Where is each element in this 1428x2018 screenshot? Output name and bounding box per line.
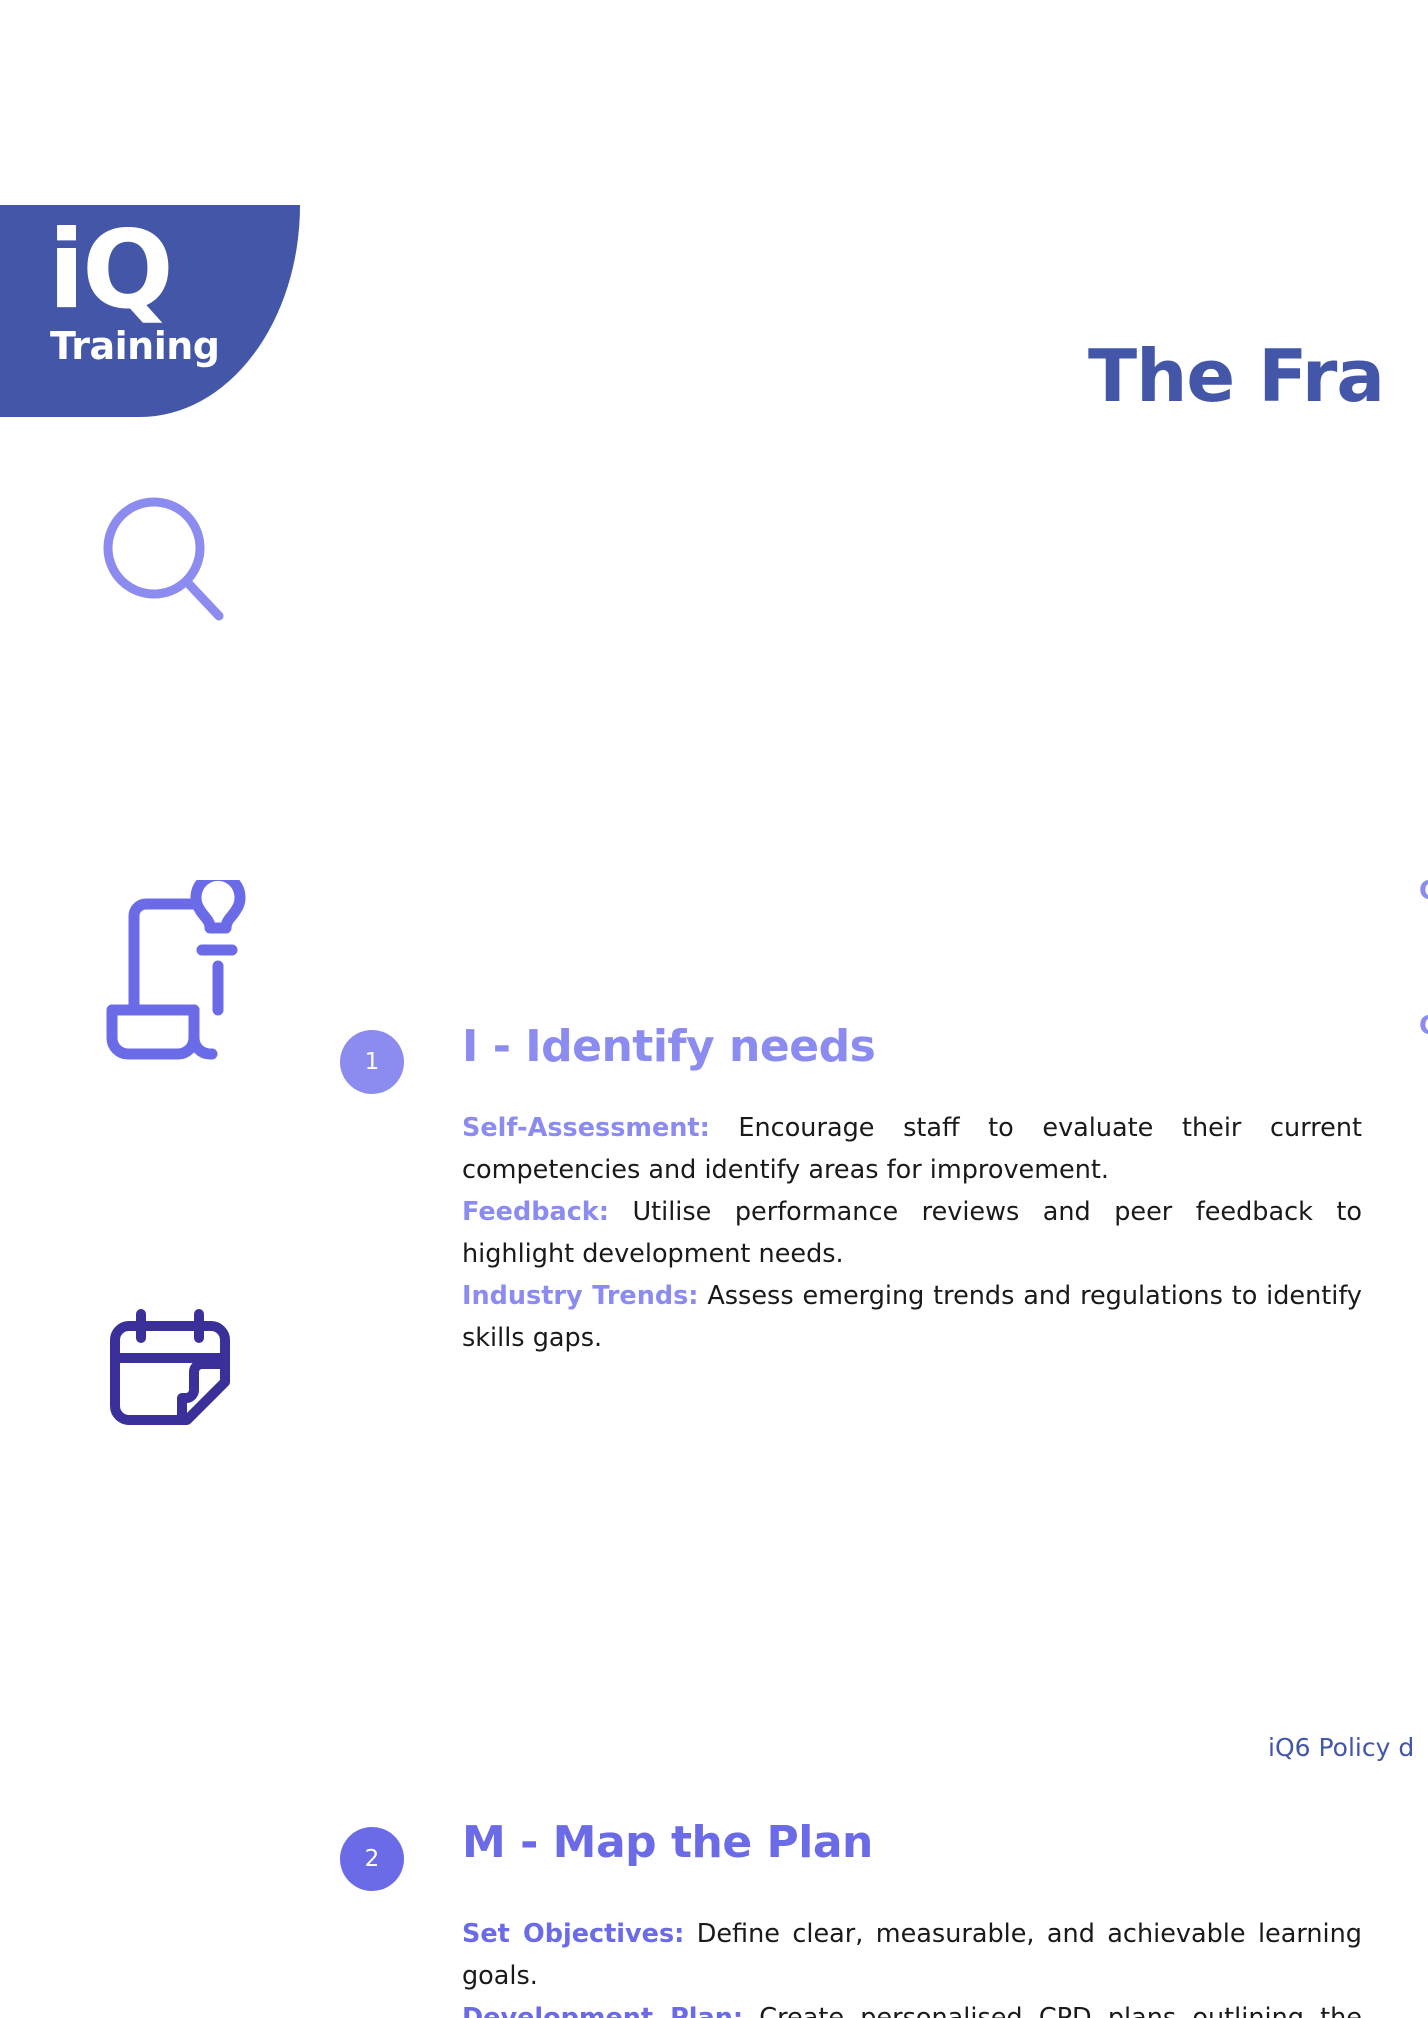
item-lead: Development Plan: — [462, 2003, 743, 2018]
body-item: Development Plan: Create personalised CP… — [462, 1997, 1362, 2018]
section-heading: M - Map the Plan — [462, 1821, 873, 1865]
step-number-badge: 2 — [340, 1827, 404, 1891]
step-number-badge: 1 — [340, 1030, 404, 1094]
magnifier-icon — [90, 490, 250, 650]
section-body: Set Objectives: Define clear, measurable… — [462, 1913, 1362, 2018]
item-lead: Set Objectives: — [462, 1919, 684, 1949]
clipped-edge-glyph: C — [1419, 1013, 1428, 1039]
item-lead: Feedback: — [462, 1197, 609, 1227]
body-item: Self-Assessment: Encourage staff to eval… — [462, 1107, 1362, 1191]
document-page: iQ Training The Fra 1 I - Identify needs… — [0, 0, 1428, 2018]
body-item: Feedback: Utilise performance reviews an… — [462, 1191, 1362, 1275]
body-item: Set Objectives: Define clear, measurable… — [462, 1913, 1362, 1997]
item-lead: Industry Trends: — [462, 1281, 698, 1311]
clipped-edge-glyph: C — [1419, 878, 1428, 904]
body-item: Industry Trends: Assess emerging trends … — [462, 1275, 1362, 1359]
item-lead: Self-Assessment: — [462, 1113, 710, 1143]
footer-note: iQ6 Policy d — [1268, 1735, 1414, 1760]
document-lightbulb-icon — [90, 880, 250, 1040]
page-title: The Fra — [1088, 340, 1384, 412]
calendar-icon — [90, 1290, 250, 1450]
logo-wordmark-text: Training — [50, 327, 220, 365]
section-heading: I - Identify needs — [462, 1025, 875, 1069]
brand-logo: iQ Training — [0, 205, 300, 417]
logo-mark-text: iQ — [48, 217, 171, 325]
section-body: Self-Assessment: Encourage staff to eval… — [462, 1107, 1362, 1359]
